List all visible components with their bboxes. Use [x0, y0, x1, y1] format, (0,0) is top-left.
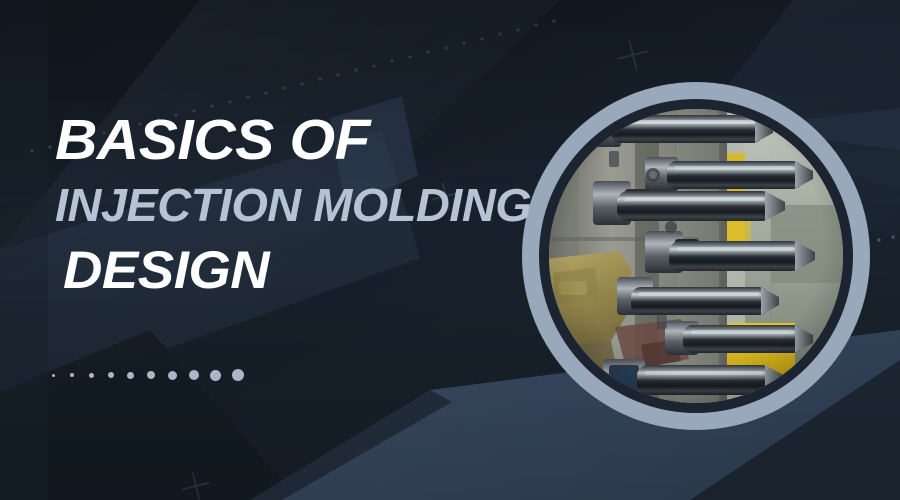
decorative-dot: [70, 373, 74, 377]
title-line-1: BASICS OF: [55, 112, 591, 169]
page-title: BASICS OF INJECTION MOLDING DESIGN: [55, 112, 575, 297]
decorative-dot: [232, 369, 244, 381]
decorative-dot: [89, 373, 94, 378]
decorative-dot: [189, 370, 199, 380]
decorative-dot: [127, 372, 134, 379]
decorative-dot: [108, 372, 114, 378]
title-line-3: DESIGN: [63, 244, 590, 297]
decorative-dot: [52, 374, 55, 377]
injection-mold-photo: [549, 109, 843, 403]
title-line-2: INJECTION MOLDING: [55, 182, 585, 228]
decorative-dot: [147, 371, 155, 379]
decorative-dot-row: [52, 366, 292, 384]
banner-root: BASICS OF INJECTION MOLDING DESIGN: [0, 0, 900, 500]
decorative-dot: [210, 370, 221, 381]
decorative-dot: [168, 371, 177, 380]
